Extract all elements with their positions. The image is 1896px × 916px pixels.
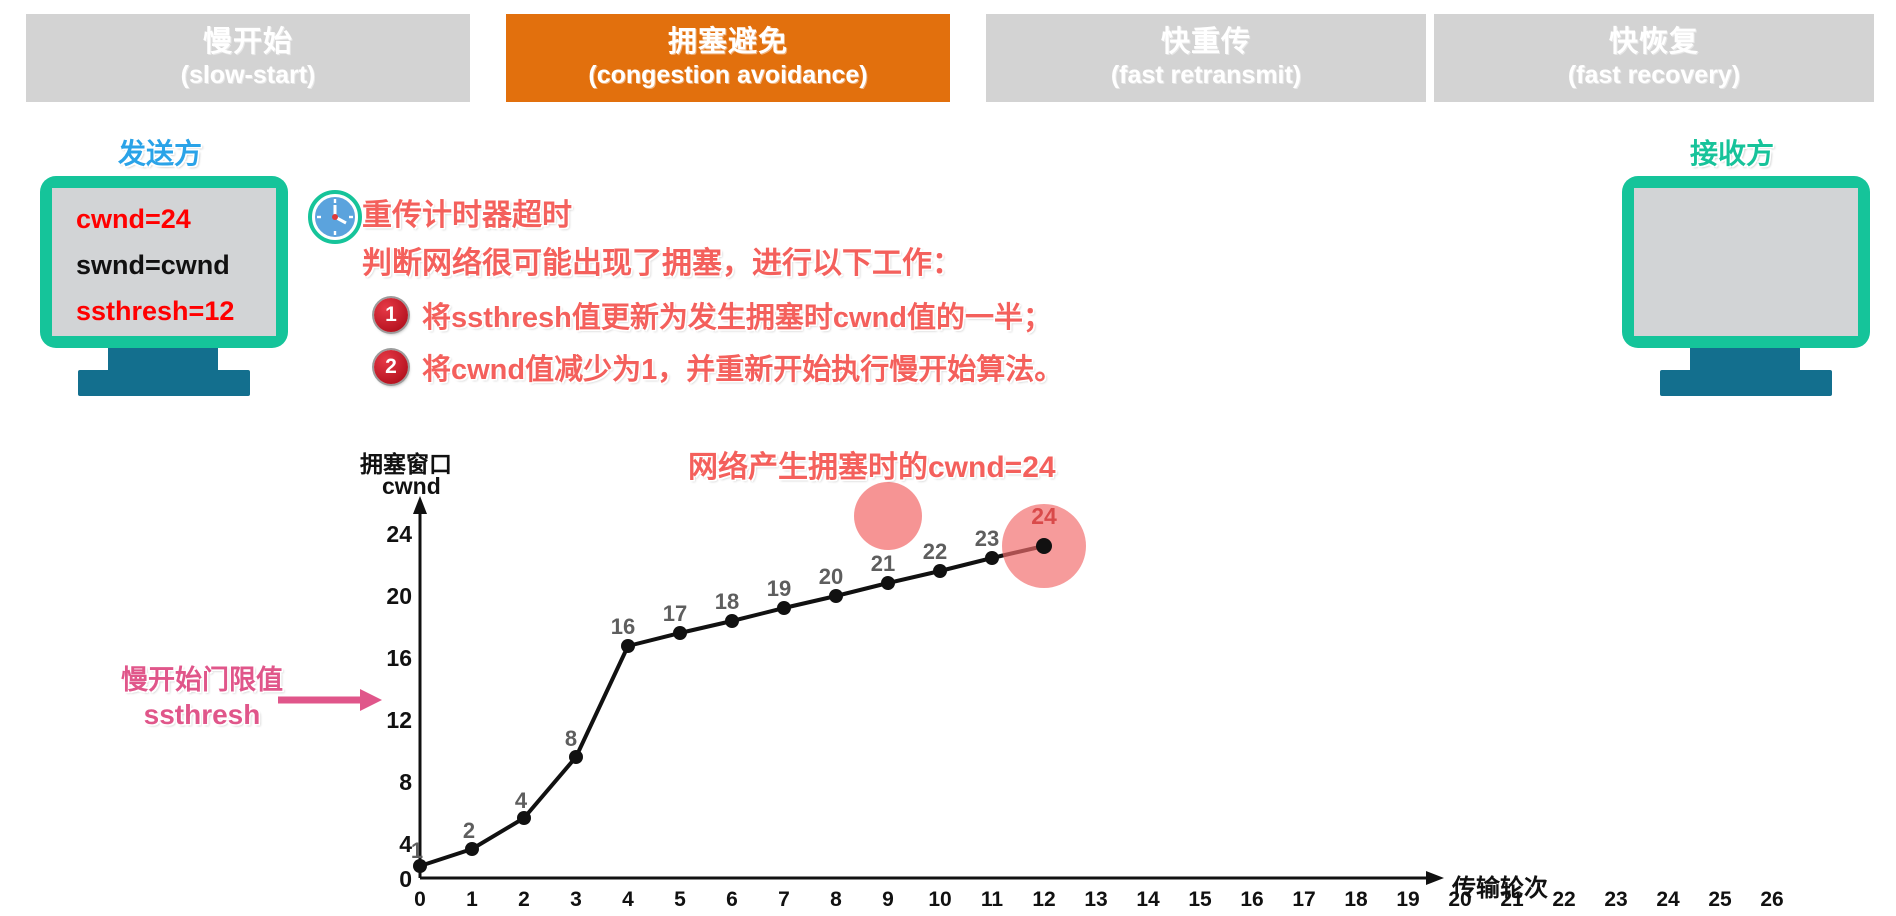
cwnd-chart: 拥塞窗口 cwnd 传输轮次 [0, 0, 1896, 916]
point-label-6: 18 [710, 589, 744, 615]
point-label-5: 17 [658, 601, 692, 627]
x-tick-12: 12 [1027, 888, 1061, 912]
point-label-11: 23 [970, 526, 1004, 552]
x-tick-9: 9 [871, 888, 905, 912]
y-tick-16: 16 [372, 645, 412, 672]
point-label-0: 1 [400, 838, 434, 864]
x-tick-18: 18 [1339, 888, 1373, 912]
congestion-data-point [1036, 538, 1052, 554]
x-tick-6: 6 [715, 888, 749, 912]
x-tick-19: 19 [1391, 888, 1425, 912]
congestion-annotation: 网络产生拥塞时的cwnd=24 [688, 442, 1056, 486]
point-label-8: 20 [814, 564, 848, 590]
x-tick-11: 11 [975, 888, 1009, 912]
ssthresh-annotation-en: ssthresh [72, 699, 332, 731]
cwnd-curve [420, 560, 992, 866]
ssthresh-annotation-cn: 慢开始门限值 [72, 658, 332, 697]
x-tick-15: 15 [1183, 888, 1217, 912]
y-tick-24: 24 [372, 521, 412, 548]
point-label-4: 16 [606, 614, 640, 640]
x-tick-10: 10 [923, 888, 957, 912]
x-tick-13: 13 [1079, 888, 1113, 912]
point-label-7: 19 [762, 576, 796, 602]
y-tick-8: 8 [372, 769, 412, 796]
y-tick-12: 12 [372, 707, 412, 734]
point-label-3: 8 [554, 726, 588, 752]
x-tick-0: 0 [403, 888, 437, 912]
x-tick-23: 23 [1599, 888, 1633, 912]
y-tick-20: 20 [372, 583, 412, 610]
x-tick-20: 20 [1443, 888, 1477, 912]
slide-canvas: 慢开始 (slow-start) 拥塞避免 (congestion avoida… [0, 0, 1896, 916]
x-tick-5: 5 [663, 888, 697, 912]
x-tick-26: 26 [1755, 888, 1789, 912]
x-tick-2: 2 [507, 888, 541, 912]
x-tick-24: 24 [1651, 888, 1685, 912]
x-tick-16: 16 [1235, 888, 1269, 912]
ssthresh-annotation: 慢开始门限值 ssthresh [72, 658, 332, 731]
point-label-2: 4 [504, 788, 538, 814]
point-label-9: 21 [866, 551, 900, 577]
x-tick-3: 3 [559, 888, 593, 912]
x-tick-8: 8 [819, 888, 853, 912]
x-tick-4: 4 [611, 888, 645, 912]
x-tick-25: 25 [1703, 888, 1737, 912]
x-tick-14: 14 [1131, 888, 1165, 912]
x-tick-17: 17 [1287, 888, 1321, 912]
x-tick-1: 1 [455, 888, 489, 912]
point-label-12-highlight: 24 [1027, 503, 1061, 530]
cwnd-data-points [413, 551, 999, 873]
x-tick-7: 7 [767, 888, 801, 912]
x-tick-22: 22 [1547, 888, 1581, 912]
point-label-10: 22 [918, 539, 952, 565]
x-tick-21: 21 [1495, 888, 1529, 912]
point-label-1: 2 [452, 818, 486, 844]
